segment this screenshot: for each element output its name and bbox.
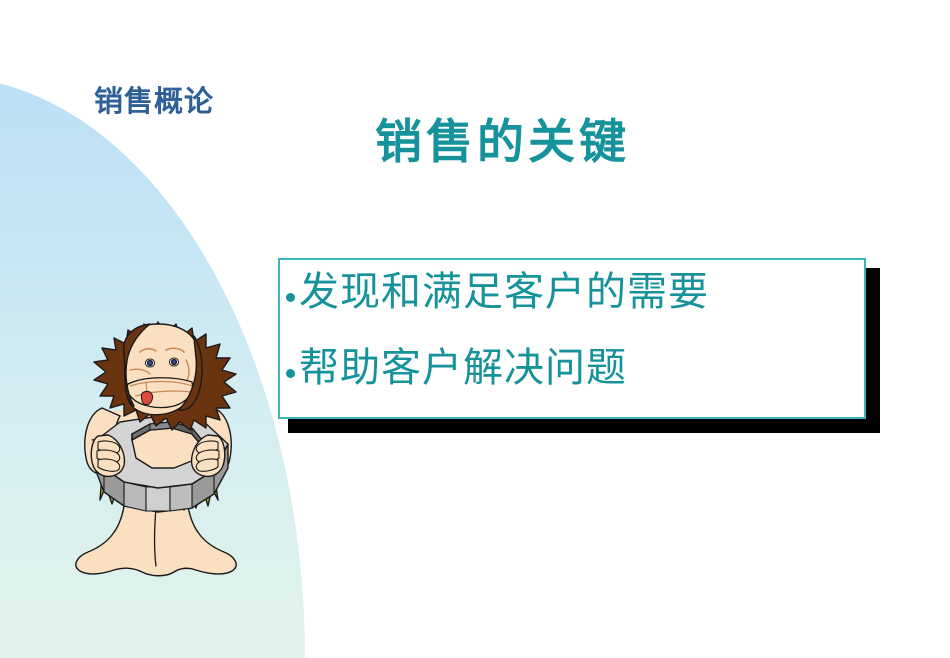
bullet-text: 发现和满足客户的需要 <box>299 272 709 312</box>
legs-and-feet <box>76 506 236 576</box>
bullet-list: 发现和满足客户的需要 帮助客户解决问题 <box>286 266 858 411</box>
list-item: 帮助客户解决问题 <box>286 348 858 388</box>
content-box: 发现和满足客户的需要 帮助客户解决问题 <box>278 258 866 419</box>
bullet-dot-icon <box>286 369 295 378</box>
page-title: 销售的关键 <box>375 103 630 172</box>
slide-kicker: 销售概论 <box>94 78 214 120</box>
caveman-illustration <box>62 318 278 596</box>
bullet-dot-icon <box>286 293 295 302</box>
list-item: 发现和满足客户的需要 <box>286 272 858 312</box>
bullet-text: 帮助客户解决问题 <box>299 348 627 388</box>
presentation-slide: 销售概论 销售的关键 发现和满足客户的需要 帮助客户解决问题 <box>0 0 950 658</box>
